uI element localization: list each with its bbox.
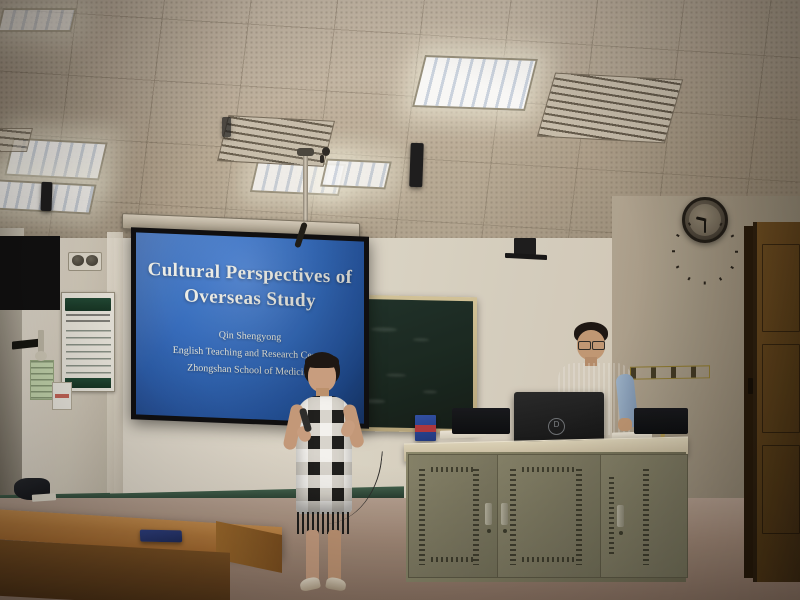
cabinet-vent-louver	[522, 557, 576, 562]
chalk-smudge	[371, 327, 397, 332]
ceiling-light-panel	[320, 159, 392, 190]
cabinet-vent-louver	[473, 469, 479, 565]
operator-hand	[618, 418, 632, 431]
wall-fixture-head	[35, 351, 47, 361]
door-panel	[762, 445, 800, 533]
cabinet-vent-louver	[643, 469, 649, 565]
hvac-vent	[537, 73, 683, 144]
emergency-lamp-icon	[72, 255, 84, 266]
cabinet-lock-icon[interactable]	[619, 531, 623, 535]
wall-clock	[682, 197, 728, 243]
presenter-right-shoe	[325, 576, 347, 591]
clock-minute-hand	[704, 220, 706, 233]
lecture-hall-photo: Cultural Perspectives of Overseas Study …	[0, 0, 800, 600]
podium-cabinet-door[interactable]	[408, 454, 498, 578]
glasses-icon	[578, 341, 591, 350]
presenter-right-leg	[328, 530, 341, 582]
cabinet-vent-louver	[510, 469, 516, 565]
green-poster	[30, 360, 54, 400]
ceiling-light-panel	[0, 8, 77, 32]
tissue-box-band	[415, 425, 436, 432]
cabinet-handle[interactable]	[617, 505, 624, 527]
ceiling-sensor-icon	[320, 155, 324, 163]
door[interactable]	[753, 222, 800, 582]
chair-back[interactable]	[634, 408, 688, 434]
podium-cabinet-door[interactable]	[600, 454, 688, 578]
white-poster	[52, 382, 72, 410]
cabinet-vent-louver	[609, 477, 614, 557]
chalk-smudge	[413, 338, 429, 341]
door-panel	[762, 344, 800, 432]
notice-board-title	[66, 314, 110, 327]
ceiling-speaker	[409, 143, 424, 187]
clock-tick	[719, 223, 722, 226]
door-hinge-icon	[748, 378, 753, 394]
cabinet-vent-louver	[431, 467, 473, 472]
tissue-box	[415, 415, 436, 441]
ceiling-speaker	[40, 182, 52, 211]
wall-speaker	[514, 238, 536, 255]
chalk-smudge	[386, 374, 406, 377]
clock-tick	[735, 251, 738, 253]
cabinet-lock-icon[interactable]	[503, 529, 507, 533]
notebook-on-desk[interactable]	[140, 530, 183, 543]
presenter-left-leg	[306, 530, 319, 582]
clock-tick	[688, 223, 691, 226]
emergency-lamp-icon	[86, 255, 98, 266]
dell-logo-icon: D	[548, 418, 565, 435]
cabinet-vent-louver	[431, 557, 473, 562]
podium-cabinet-door[interactable]	[497, 454, 601, 578]
cabinet-vent-louver	[576, 469, 582, 565]
ceiling-speaker	[222, 117, 231, 137]
cabinet-vent-louver	[522, 467, 576, 472]
glasses-icon	[592, 341, 605, 350]
clock-tick	[704, 282, 706, 285]
upper-left-dark-wall	[0, 236, 60, 310]
emergency-light	[68, 252, 102, 271]
door-panel	[762, 244, 800, 332]
hvac-vent	[217, 115, 335, 167]
chalk-smudge	[423, 390, 437, 393]
chair-back[interactable]	[452, 408, 510, 434]
clock-tick	[672, 251, 675, 253]
projector-mount-head	[297, 148, 314, 156]
cabinet-lock-icon[interactable]	[487, 529, 491, 533]
cabinet-handle[interactable]	[485, 503, 492, 525]
notice-board-rows	[66, 330, 111, 375]
notice-board-header	[65, 298, 111, 311]
presenter-hair-fringe	[305, 354, 339, 368]
poster-red-band	[55, 394, 69, 398]
cabinet-handle[interactable]	[501, 503, 508, 525]
ceiling-light-panel	[412, 55, 538, 111]
presenter-left-shoe	[299, 576, 321, 592]
notice-board	[61, 292, 115, 392]
clock-face	[689, 204, 721, 236]
female-presenter	[276, 352, 372, 600]
cabinet-vent-louver	[419, 469, 425, 565]
slide-title: Cultural Perspectives of Overseas Study	[136, 256, 364, 316]
